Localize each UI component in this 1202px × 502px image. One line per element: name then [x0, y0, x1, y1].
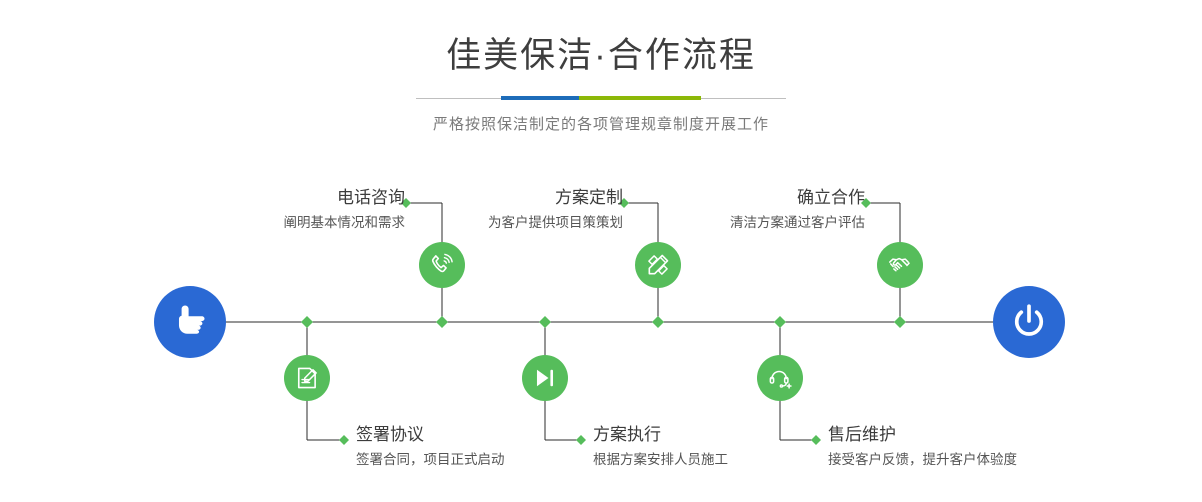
step-icon-2[interactable] — [284, 355, 330, 401]
step-icon-6[interactable] — [757, 355, 803, 401]
start-endpoint[interactable] — [154, 286, 226, 358]
page-header: 佳美保洁·合作流程 严格按照保洁制定的各项管理规章制度开展工作 — [0, 34, 1202, 136]
step-title-6: 售后维护 — [828, 424, 1188, 446]
divider-blue-segment — [501, 96, 579, 100]
step-icon-1[interactable] — [419, 242, 465, 288]
handshake-icon — [887, 252, 913, 278]
pointing-hand-icon — [169, 301, 211, 343]
step-icon-3[interactable] — [635, 242, 681, 288]
end-endpoint[interactable] — [993, 286, 1065, 358]
title-divider — [416, 94, 786, 104]
phone-call-icon — [429, 252, 455, 278]
step-icon-4[interactable] — [522, 355, 568, 401]
pencil-ruler-icon — [645, 252, 671, 278]
step-icon-5[interactable] — [877, 242, 923, 288]
timeline-diamond-markers — [301, 316, 906, 328]
step-label-6: 售后维护 接受客户反馈，提升客户体验度 — [828, 424, 1188, 470]
page-subtitle: 严格按照保洁制定的各项管理规章制度开展工作 — [0, 114, 1202, 136]
divider-green-segment — [579, 96, 701, 100]
play-execute-icon — [532, 365, 558, 391]
page-title: 佳美保洁·合作流程 — [0, 34, 1202, 78]
document-sign-icon — [294, 365, 320, 391]
flow-diagram-page: 佳美保洁·合作流程 严格按照保洁制定的各项管理规章制度开展工作 — [0, 0, 1202, 502]
step-desc-5: 清洁方案通过客户评估 — [565, 213, 865, 233]
customer-support-icon — [767, 365, 793, 391]
step-title-5: 确立合作 — [565, 187, 865, 209]
power-icon — [1008, 301, 1050, 343]
step-label-5: 确立合作 清洁方案通过客户评估 — [565, 187, 865, 233]
step-desc-6: 接受客户反馈，提升客户体验度 — [828, 450, 1188, 470]
label-diamond-markers — [339, 198, 871, 445]
